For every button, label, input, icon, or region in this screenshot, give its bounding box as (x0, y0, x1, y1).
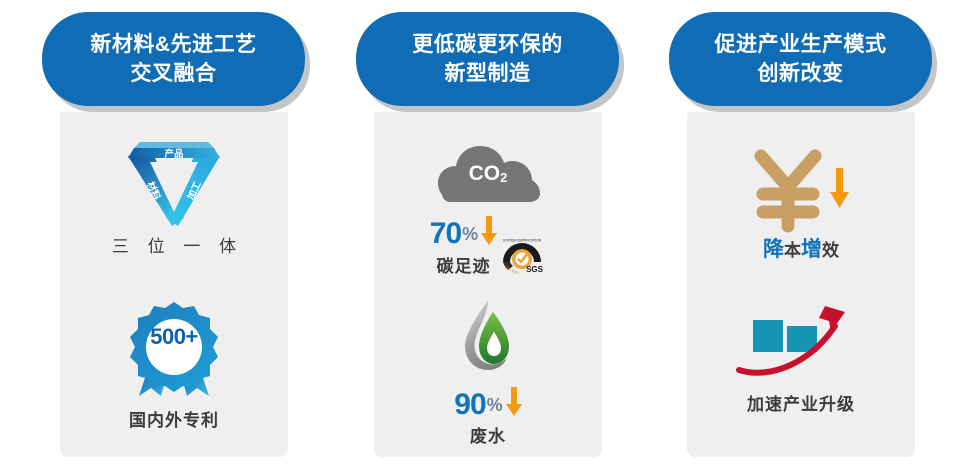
column-industry-upgrade: 促进产业生产模式 创新改变 (645, 0, 955, 474)
item-caption: 国内外专利 (60, 406, 288, 431)
item-caption: 废水 (374, 422, 602, 447)
item-triangle-loop: 产品 材料 加工 三 位 一 体 (60, 140, 288, 257)
co2-cloud-icon: CO2 (428, 140, 548, 210)
stat-unit: % (487, 389, 503, 421)
item-cost-reduction: 降本增效 (687, 142, 915, 263)
column-low-carbon: 更低碳更环保的 新型制造 CO2 70 % (332, 0, 642, 474)
stat-value-line: 70 % (430, 216, 497, 251)
carbon-stat-row: 70 % 碳足迹 (374, 216, 602, 279)
down-arrow-icon (830, 168, 849, 208)
column-new-materials: 新材料&先进工艺 交叉融合 (18, 0, 328, 474)
seal-arc-text: SYSTEM CERTIFICATION (503, 239, 542, 243)
stat-caption: 碳足迹 (436, 252, 490, 277)
triangle-segment-top: 产品 (164, 148, 183, 160)
column-header-text: 促进产业生产模式 创新改变 (715, 30, 887, 88)
carbon-stat: 70 % 碳足迹 (430, 216, 497, 277)
item-caption: 降本增效 (687, 238, 915, 263)
water-drop-leaf-icon (374, 298, 602, 385)
water-stat-value-line: 90 % (374, 387, 602, 422)
column-header-banner[interactable]: 促进产业生产模式 创新改变 (669, 12, 932, 106)
stat-value: 70 (430, 218, 461, 250)
yen-cost-down-icon (731, 142, 871, 238)
down-arrow-icon (481, 216, 497, 251)
column-header-text: 新材料&先进工艺 交叉融合 (90, 30, 256, 88)
co2-label: CO2 (428, 162, 548, 186)
item-caption: 加速产业升级 (687, 390, 915, 415)
seal-brand: SGS (526, 265, 544, 274)
badge-value: 500+ (119, 324, 229, 350)
infographic-board: 新材料&先进工艺 交叉融合 (0, 0, 979, 474)
triangle-loop-icon: 产品 材料 加工 (122, 140, 226, 228)
item-industry-upgrade: 加速产业升级 (687, 300, 915, 415)
growth-arrow-icon (731, 300, 871, 388)
patent-badge-icon: 500+ (119, 296, 229, 400)
column-header-banner[interactable]: 新材料&先进工艺 交叉融合 (42, 12, 305, 106)
column-header-banner[interactable]: 更低碳更环保的 新型制造 (356, 12, 619, 106)
item-carbon-footprint: CO2 70 % 碳足迹 (374, 140, 602, 279)
sgs-certification-seal: SYSTEM CERTIFICATION ISO 9001:2000 SGS (500, 232, 546, 279)
stat-value: 90 (454, 389, 485, 421)
column-header-text: 更低碳更环保的 新型制造 (412, 30, 563, 88)
down-arrow-icon (506, 387, 522, 422)
item-caption: 三 位 一 体 (60, 232, 288, 257)
item-patent-badge: 500+ 国内外专利 (60, 296, 288, 431)
stat-unit: % (462, 218, 478, 250)
item-waste-water: 90 % 废水 (374, 298, 602, 447)
